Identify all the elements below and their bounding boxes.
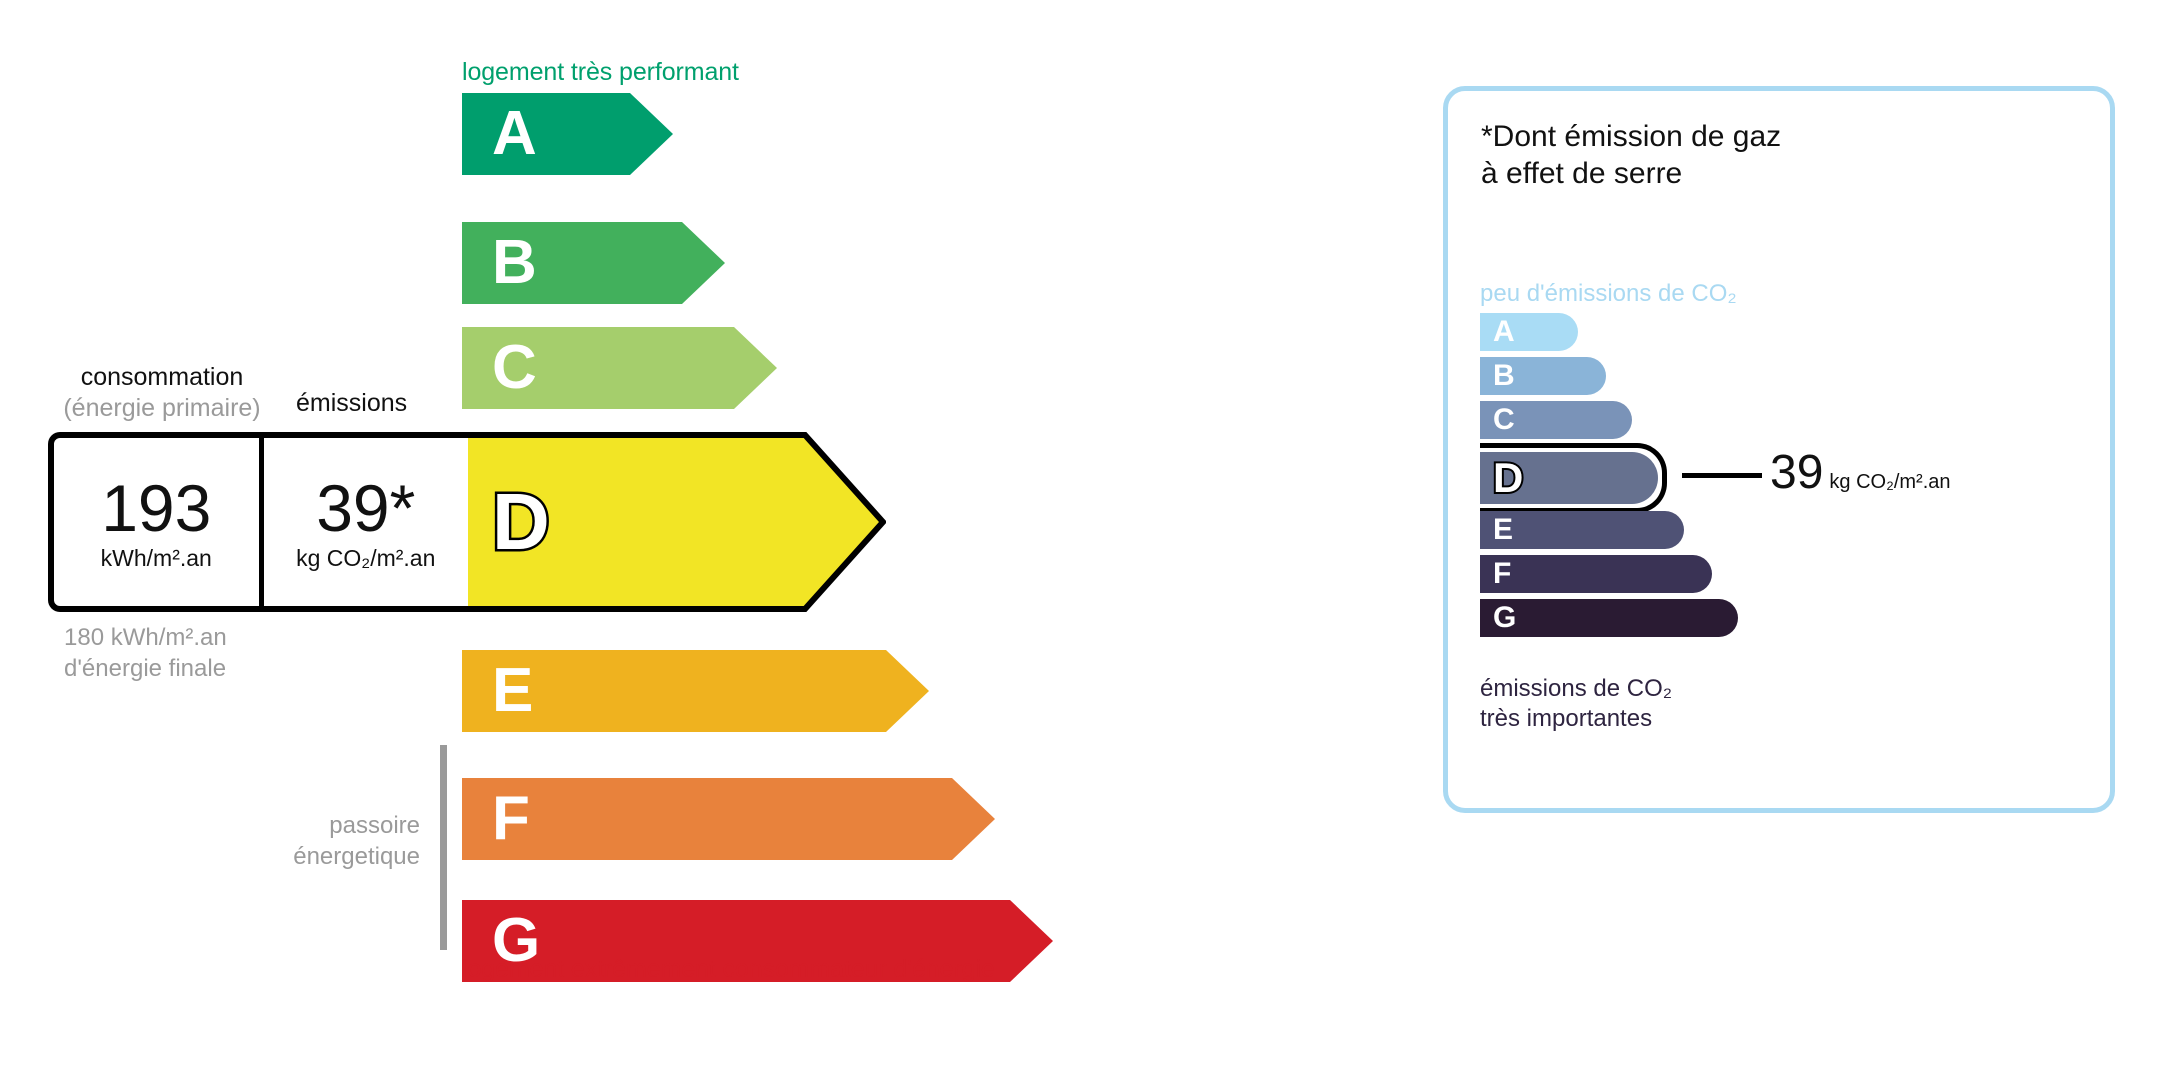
value-box: 193 kWh/m².an 39* kg CO₂/m².an [48,432,468,612]
consumption-value: 193 [101,475,211,541]
ges-bar-g: G [1480,599,1738,637]
ges-top-caption: peu d'émissions de CO₂ [1480,280,1737,308]
ges-class-letter-a: A [1493,317,1515,347]
consumption-label-sub: (énergie primaire) [62,393,262,424]
ges-bottom-line1: émissions de CO₂ [1480,674,1672,704]
consumption-value-cell: 193 kWh/m².an [54,438,259,606]
final-energy-note: 180 kWh/m².an d'énergie finale [64,622,227,684]
energy-class-letter-c: C [492,337,537,399]
energy-class-letter-e: E [492,660,533,722]
energy-arrow-a: A [462,93,673,175]
ges-bar-d: D [1480,452,1658,504]
energy-arrow-b: B [462,222,725,304]
final-energy-line2: d'énergie finale [64,653,227,684]
ges-bottom-caption: émissions de CO₂ très importantes [1480,674,1672,734]
ges-bar-row-a: A [1480,313,1578,351]
ges-title: *Dont émission de gaz à effet de serre [1481,119,1781,192]
ges-class-letter-c: C [1493,405,1515,435]
ges-bar-a: A [1480,313,1578,351]
ges-bar-row-g: G [1480,599,1738,637]
ges-class-letter-g: G [1493,603,1516,633]
ges-bar-row-b: B [1480,357,1606,395]
energy-arrow-shape [462,778,995,860]
ges-class-letter-e: E [1493,515,1513,545]
ges-class-letter-b: B [1493,361,1515,391]
passoire-marker-bar [440,745,447,950]
emissions-value: 39* [316,475,415,541]
consumption-unit: kWh/m².an [101,547,212,570]
energy-arrow-f: F [462,778,995,860]
energy-top-caption: logement très performant [462,58,739,87]
energy-class-letter-a: A [492,103,537,165]
ges-bar-e: E [1480,511,1684,549]
energy-class-letter-b: B [492,232,537,294]
ges-title-line1: *Dont émission de gaz [1481,119,1781,156]
energy-class-letter-d: D [492,482,550,562]
ges-value-unit: kg CO₂/m².an [1829,471,1950,493]
ges-bar-c: C [1480,401,1632,439]
ges-value-group: 39kg CO₂/m².an [1770,449,1951,497]
passoire-line1: passoire [150,810,420,841]
ges-class-letter-f: F [1493,559,1511,589]
consumption-label: consommation (énergie primaire) [62,362,262,423]
energy-class-letter-f: F [492,788,530,850]
passoire-line2: énergetique [150,841,420,872]
ges-bar-row-f: F [1480,555,1712,593]
ges-title-line2: à effet de serre [1481,156,1781,193]
ges-bar-row-e: E [1480,511,1684,549]
ges-class-letter-d: D [1493,457,1523,499]
energy-arrow-d: D [462,432,886,612]
ges-leader-line [1682,473,1762,478]
ges-bar-b: B [1480,357,1606,395]
ges-bar-row-c: C [1480,401,1632,439]
ges-panel: *Dont émission de gaz à effet de serre p… [1443,86,2115,813]
passoire-label: passoire énergetique [150,810,420,872]
ges-bottom-line2: très importantes [1480,704,1672,734]
emissions-label: émissions [296,389,407,418]
ges-bar-row-d: D [1480,443,1667,513]
dpe-energy-chart: logement très performant ABCDEFG consomm… [0,0,1420,1079]
ges-bar-f: F [1480,555,1712,593]
energy-bottom-caption: logement extrêmement consommateur d'éner… [462,955,995,984]
consumption-label-main: consommation [62,362,262,393]
energy-arrow-c: C [462,327,777,409]
energy-arrow-e: E [462,650,929,732]
emissions-unit: kg CO₂/m².an [296,547,435,570]
emissions-value-cell: 39* kg CO₂/m².an [259,438,469,606]
ges-value-number: 39 [1770,446,1823,499]
final-energy-line1: 180 kWh/m².an [64,622,227,653]
